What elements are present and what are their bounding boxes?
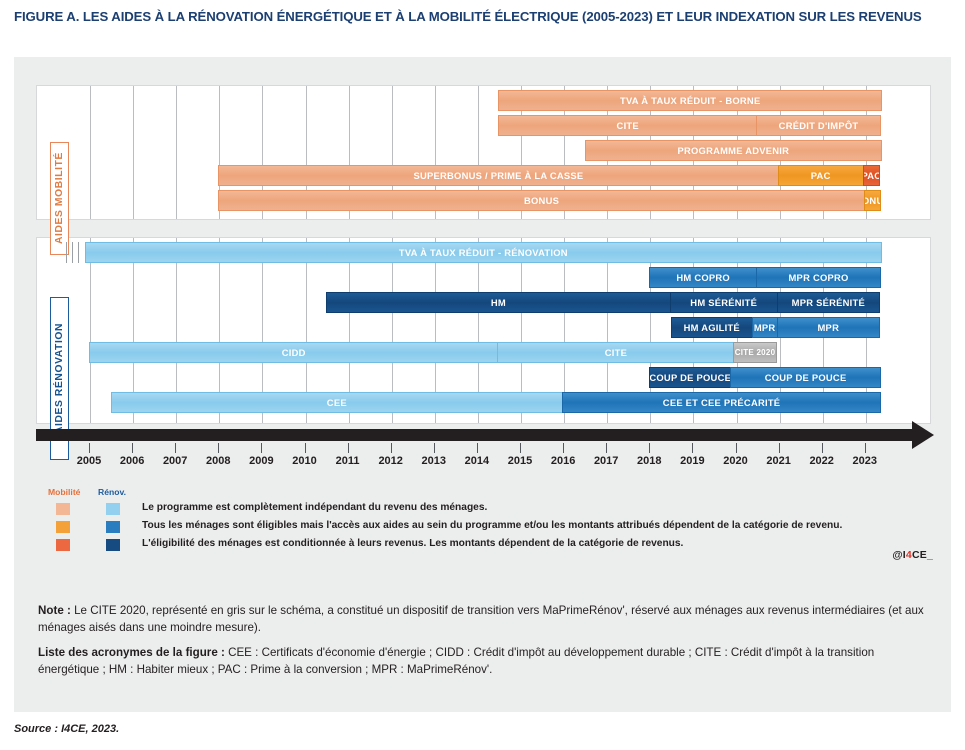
axis-year-label: 2015 bbox=[497, 455, 543, 467]
timeline-bar[interactable]: SUPERBONUS / PRIME À LA CASSEPACPAC bbox=[218, 165, 882, 186]
timeline-bar-segment[interactable]: HM SÉRÉNITÉ bbox=[670, 292, 778, 313]
axis-tick bbox=[305, 443, 306, 453]
legend-header-mobility: Mobilité bbox=[48, 487, 80, 497]
timeline-bar-segment[interactable]: HM COPRO bbox=[649, 267, 757, 288]
timeline-bar-segment[interactable]: HM bbox=[326, 292, 671, 313]
social-handle: @I4CE_ bbox=[892, 549, 933, 561]
axis-year-label: 2005 bbox=[66, 455, 112, 467]
axis-tick bbox=[736, 443, 737, 453]
timeline-bar[interactable]: BONUSBONUS bbox=[218, 190, 882, 211]
axis-tick bbox=[865, 443, 866, 453]
timeline-bar[interactable]: CEECEE ET CEE PRÉCARITÉ bbox=[111, 392, 882, 413]
timeline-bar-segment[interactable]: MPR bbox=[752, 317, 778, 338]
axis-tick bbox=[391, 443, 392, 453]
timeline-bar-segment[interactable]: BONUS bbox=[864, 190, 881, 211]
axis-year-label: 2022 bbox=[799, 455, 845, 467]
timeline-bar-segment[interactable]: PAC bbox=[778, 165, 864, 186]
timeline-bar-segment[interactable]: HM AGILITÉ bbox=[671, 317, 753, 338]
timeline-bar[interactable]: HM COPROMPR COPRO bbox=[649, 267, 882, 288]
timeline-bar-segment[interactable]: COUP DE POUCE bbox=[649, 367, 731, 388]
timeline-bar-segment[interactable]: PROGRAMME ADVENIR bbox=[585, 140, 882, 161]
axis-tick bbox=[175, 443, 176, 453]
axis-break-icon bbox=[66, 242, 83, 263]
axis-year-label: 2008 bbox=[195, 455, 241, 467]
axis-year-label: 2012 bbox=[368, 455, 414, 467]
axis-tick bbox=[89, 443, 90, 453]
timeline-bar-segment[interactable]: CIDD bbox=[89, 342, 498, 363]
legend-headers: Mobilité Rénov. bbox=[38, 487, 938, 500]
figure-title: FIGURE A. LES AIDES À LA RÉNOVATION ÉNER… bbox=[14, 8, 944, 26]
legend-text: Tous les ménages sont éligibles mais l'a… bbox=[142, 520, 842, 531]
timeline-bar[interactable]: TVA À TAUX RÉDUIT - BORNE bbox=[498, 90, 882, 111]
legend-swatch-renovation bbox=[106, 503, 120, 515]
timeline-bar[interactable]: HM AGILITÉMPRMPR bbox=[671, 317, 882, 338]
handle-prefix: @I bbox=[892, 549, 906, 561]
axis-year-label: 2014 bbox=[454, 455, 500, 467]
axis-year-label: 2007 bbox=[152, 455, 198, 467]
gridline bbox=[176, 86, 177, 219]
axis-tick bbox=[132, 443, 133, 453]
legend-rows: Le programme est complètement indépendan… bbox=[38, 500, 938, 554]
timeline-bar-segment[interactable]: CEE bbox=[111, 392, 564, 413]
timeline-bar-segment[interactable]: CITE bbox=[497, 342, 734, 363]
axis-year-label: 2006 bbox=[109, 455, 155, 467]
timeline-bar[interactable]: CITECRÉDIT D'IMPÔT bbox=[498, 115, 882, 136]
timeline-bar-segment[interactable]: TVA À TAUX RÉDUIT - BORNE bbox=[498, 90, 882, 111]
legend-row: Tous les ménages sont éligibles mais l'a… bbox=[38, 518, 938, 536]
axis-year-label: 2019 bbox=[669, 455, 715, 467]
timeline-bar-segment[interactable]: CRÉDIT D'IMPÔT bbox=[756, 115, 881, 136]
legend-swatch-mobility bbox=[56, 539, 70, 551]
axis-tick bbox=[822, 443, 823, 453]
note-paragraph: Note : Le CITE 2020, représenté en gris … bbox=[38, 602, 933, 637]
axis-year-label: 2023 bbox=[842, 455, 888, 467]
axis-year-label: 2020 bbox=[713, 455, 759, 467]
axis-tick bbox=[692, 443, 693, 453]
axis-tick bbox=[218, 443, 219, 453]
axis-year-label: 2016 bbox=[540, 455, 586, 467]
legend-row: Le programme est complètement indépendan… bbox=[38, 500, 938, 518]
timeline-bar[interactable]: CIDDCITECITE 2020 bbox=[89, 342, 779, 363]
acronyms-label: Liste des acronymes de la figure : bbox=[38, 646, 225, 659]
axis-tick bbox=[261, 443, 262, 453]
axis-year-label: 2009 bbox=[238, 455, 284, 467]
timeline-axis bbox=[36, 429, 916, 441]
timeline-bar-segment[interactable]: SUPERBONUS / PRIME À LA CASSE bbox=[218, 165, 778, 186]
notes-block: Note : Le CITE 2020, représenté en gris … bbox=[38, 602, 933, 686]
gridline bbox=[133, 86, 134, 219]
axis-tick bbox=[606, 443, 607, 453]
gridline bbox=[90, 86, 91, 219]
timeline-plot: AIDES MOBILITÉ AIDES RÉNOVATION TVA À TA… bbox=[14, 57, 951, 457]
source-caption: Source : I4CE, 2023. bbox=[14, 723, 119, 735]
timeline-bar-segment[interactable]: TVA À TAUX RÉDUIT - RÉNOVATION bbox=[85, 242, 882, 263]
axis-year-label: 2021 bbox=[756, 455, 802, 467]
timeline-bar-segment[interactable]: MPR bbox=[777, 317, 880, 338]
axis-tick bbox=[434, 443, 435, 453]
timeline-bar-segment[interactable]: COUP DE POUCE bbox=[730, 367, 881, 388]
legend-swatch-renovation bbox=[106, 539, 120, 551]
axis-tick bbox=[520, 443, 521, 453]
legend-swatch-mobility bbox=[56, 521, 70, 533]
mobility-section-label: AIDES MOBILITÉ bbox=[50, 142, 69, 255]
handle-suffix: CE_ bbox=[912, 549, 933, 561]
legend: Mobilité Rénov. Le programme est complèt… bbox=[38, 487, 938, 554]
note-label: Note : bbox=[38, 604, 71, 617]
axis-year-label: 2017 bbox=[583, 455, 629, 467]
timeline-bar-segment[interactable]: CITE bbox=[498, 115, 757, 136]
note-text: Le CITE 2020, représenté en gris sur le … bbox=[38, 604, 924, 634]
gridline bbox=[90, 238, 91, 423]
legend-swatch-renovation bbox=[106, 521, 120, 533]
timeline-bar-segment[interactable]: BONUS bbox=[218, 190, 865, 211]
axis-tick bbox=[779, 443, 780, 453]
timeline-bar-segment[interactable]: CITE 2020 bbox=[733, 342, 776, 363]
axis-year-label: 2010 bbox=[282, 455, 328, 467]
timeline-bar-segment[interactable]: CEE ET CEE PRÉCARITÉ bbox=[562, 392, 881, 413]
timeline-bar[interactable]: COUP DE POUCECOUP DE POUCE bbox=[649, 367, 882, 388]
legend-text: Le programme est complètement indépendan… bbox=[142, 502, 487, 513]
figure-page: FIGURE A. LES AIDES À LA RÉNOVATION ÉNER… bbox=[0, 0, 965, 750]
timeline-bar[interactable]: HMHM SÉRÉNITÉMPR SÉRÉNITÉ bbox=[326, 292, 882, 313]
acronyms-paragraph: Liste des acronymes de la figure : CEE :… bbox=[38, 644, 933, 679]
axis-tick bbox=[649, 443, 650, 453]
axis-tick bbox=[348, 443, 349, 453]
timeline-bar-segment[interactable]: MPR COPRO bbox=[756, 267, 881, 288]
timeline-arrow-icon bbox=[912, 421, 934, 449]
legend-header-renovation: Rénov. bbox=[98, 487, 126, 497]
axis-year-label: 2018 bbox=[626, 455, 672, 467]
axis-year-label: 2013 bbox=[411, 455, 457, 467]
timeline-bar[interactable]: PROGRAMME ADVENIR bbox=[585, 140, 882, 161]
legend-row: L'éligibilité des ménages est conditionn… bbox=[38, 536, 938, 554]
figure-panel: AIDES MOBILITÉ AIDES RÉNOVATION TVA À TA… bbox=[14, 57, 951, 712]
axis-tick bbox=[477, 443, 478, 453]
timeline-bar-segment[interactable]: MPR SÉRÉNITÉ bbox=[777, 292, 880, 313]
timeline-bar[interactable]: TVA À TAUX RÉDUIT - RÉNOVATION bbox=[85, 242, 882, 263]
legend-swatch-mobility bbox=[56, 503, 70, 515]
timeline-bar-segment[interactable]: PAC bbox=[863, 165, 880, 186]
axis-tick bbox=[563, 443, 564, 453]
axis-year-label: 2011 bbox=[325, 455, 371, 467]
legend-text: L'éligibilité des ménages est conditionn… bbox=[142, 538, 683, 549]
